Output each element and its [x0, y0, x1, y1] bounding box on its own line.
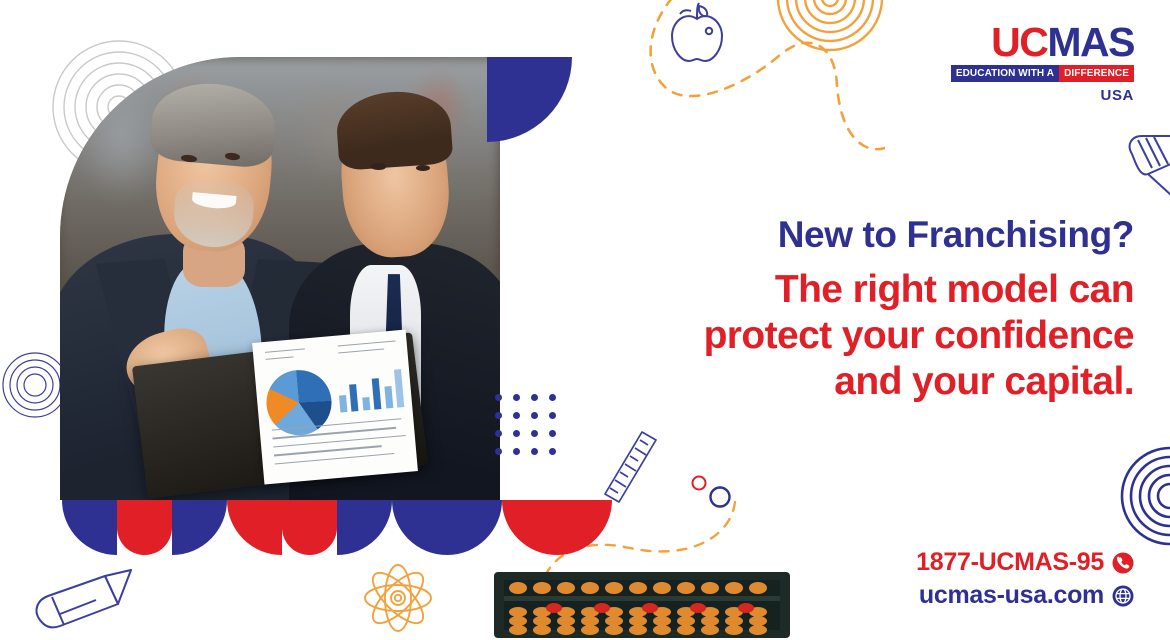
poster-canvas: UCMAS EDUCATION WITH A DIFFERENCE USA Ne…	[0, 0, 1170, 638]
ruler-outline-icon	[594, 428, 664, 503]
globe-icon[interactable]	[1112, 585, 1134, 607]
concentric-arcs-blue-orange	[1104, 446, 1170, 546]
headline-line-3: and your capital.	[622, 359, 1134, 405]
ucmas-logo: UCMAS EDUCATION WITH A DIFFERENCE USA	[951, 24, 1134, 104]
logo-region: USA	[951, 87, 1134, 104]
quarter-circle-blue	[487, 57, 572, 142]
logo-mas: MAS	[1047, 19, 1134, 65]
headline-line-2: protect your confidence	[622, 313, 1134, 359]
pencil-outline-icon	[30, 566, 140, 638]
logo-uc: UC	[991, 19, 1047, 65]
small-circle-red	[690, 474, 708, 492]
shape-pattern-strip	[62, 500, 612, 555]
website-url[interactable]: ucmas-usa.com	[919, 581, 1104, 610]
bar-chart	[336, 364, 404, 412]
pencil-outline-icon	[1108, 134, 1170, 224]
tagline-accent: DIFFERENCE	[1059, 65, 1134, 82]
apple-outline-icon	[668, 2, 726, 64]
logo-wordmark: UCMAS	[951, 24, 1134, 62]
contact-block: 1877-UCMAS-95 ucmas-usa.com	[916, 548, 1134, 610]
phone-number[interactable]: 1877-UCMAS-95	[916, 548, 1104, 577]
dashed-wave-line	[625, 0, 885, 190]
report-document	[252, 330, 418, 485]
logo-tagline: EDUCATION WITH A DIFFERENCE	[951, 65, 1134, 82]
website-row[interactable]: ucmas-usa.com	[916, 581, 1134, 610]
headline-line-1: The right model can	[622, 267, 1134, 313]
small-circle-blue	[707, 484, 733, 510]
abacus-image	[492, 568, 792, 640]
atom-icon	[362, 562, 434, 634]
tagline-primary: EDUCATION WITH A	[951, 65, 1059, 82]
phone-row[interactable]: 1877-UCMAS-95	[916, 548, 1134, 577]
kicker-text: New to Franchising?	[622, 215, 1134, 255]
concentric-circles-blue	[2, 352, 68, 418]
hero-photo	[60, 57, 500, 500]
headline-text: The right model can protect your confide…	[622, 267, 1134, 405]
concentric-circles-orange	[775, 0, 885, 70]
headline-block: New to Franchising? The right model can …	[622, 215, 1134, 405]
phone-icon[interactable]	[1112, 552, 1134, 574]
